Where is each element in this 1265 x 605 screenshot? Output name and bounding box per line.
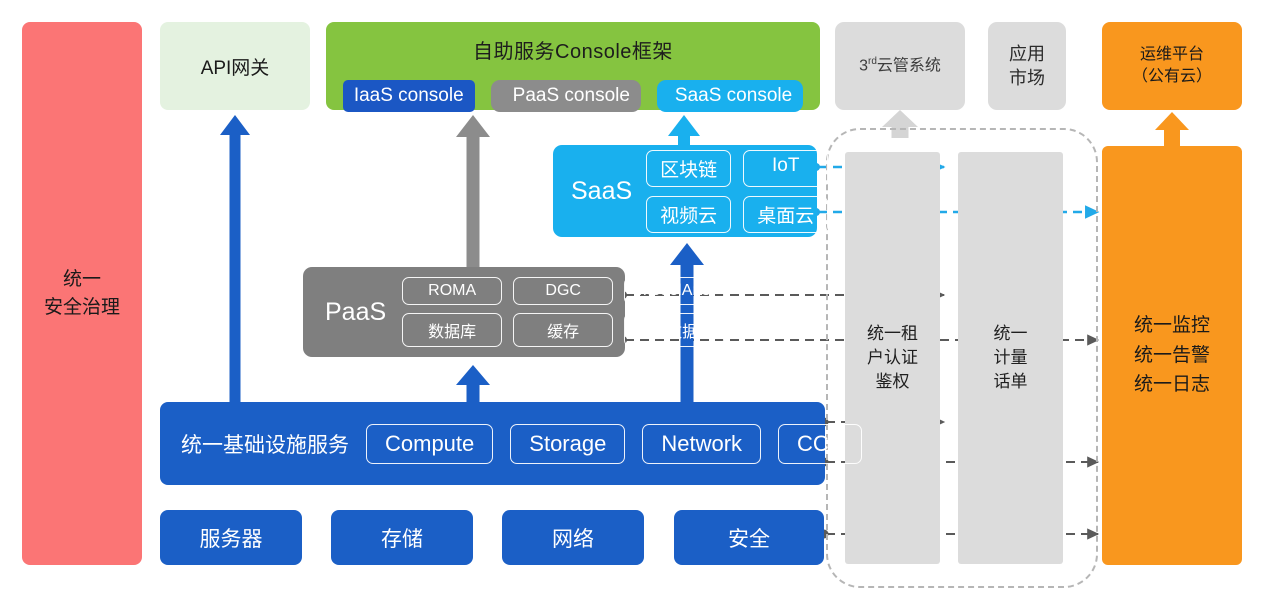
paas-service-cache[interactable]: 缓存 (513, 313, 613, 347)
paas-label: PaaS (325, 298, 386, 327)
saas-service-iot[interactable]: IoT (743, 150, 828, 187)
paas-layer-box: PaaS ROMA DGC ModelArts 数据库 缓存 大数据 (303, 267, 625, 357)
resource-label-network: 网络 (552, 523, 594, 553)
ops-body-line-1: 统一监控 (1134, 311, 1210, 340)
ops-platform-body-box: 统一监控 统一告警 统一日志 (1102, 146, 1242, 565)
iaas-service-cce[interactable]: CCE (778, 424, 862, 464)
third-party-label: 3rd云管系统 (859, 55, 941, 77)
paas-service-roma[interactable]: ROMA (402, 277, 502, 305)
metering-line-3: 话单 (994, 370, 1028, 394)
saas-service-blockchain[interactable]: 区块链 (646, 150, 731, 187)
ops-platform-header-box: 运维平台 （公有云） (1102, 22, 1242, 110)
api-gateway-label: API网关 (201, 53, 270, 80)
self-service-console-frame: 自助服务Console框架 IaaS console PaaS console … (326, 22, 820, 110)
ops-body-line-3: 统一日志 (1134, 370, 1210, 399)
unified-infrastructure-bar: 统一基础设施服务 Compute Storage Network CCE (160, 402, 825, 485)
arrow-paas-to-console (456, 115, 490, 272)
metering-line-1: 统一 (994, 322, 1028, 346)
paas-service-grid: ROMA DGC ModelArts 数据库 缓存 大数据 (402, 277, 724, 347)
iaas-service-compute[interactable]: Compute (366, 424, 493, 464)
arrow-to-ops-platform (1155, 112, 1189, 146)
metering-line-2: 计量 (994, 346, 1028, 370)
auth-line-3: 鉴权 (867, 370, 918, 394)
arrow-iaas-to-paas (456, 365, 490, 407)
app-market-line-2: 市场 (1009, 66, 1045, 90)
architecture-diagram: 统一 安全治理 API网关 自助服务Console框架 IaaS console… (0, 0, 1265, 605)
paas-service-dgc[interactable]: DGC (513, 277, 613, 305)
paas-service-bigdata[interactable]: 大数据 (624, 313, 724, 347)
auth-line-1: 统一租 (867, 322, 918, 346)
paas-service-database[interactable]: 数据库 (402, 313, 502, 347)
resource-box-storage[interactable]: 存储 (331, 510, 473, 565)
resource-label-server: 服务器 (200, 523, 263, 553)
resource-box-security[interactable]: 安全 (674, 510, 824, 565)
arrow-iaas-to-api-gateway (220, 115, 250, 405)
ops-head-line-2: （公有云） (1132, 66, 1212, 88)
resource-box-network[interactable]: 网络 (502, 510, 644, 565)
ops-body-line-2: 统一告警 (1134, 341, 1210, 370)
console-frame-title: 自助服务Console框架 (473, 35, 673, 64)
resource-label-storage: 存储 (381, 523, 423, 553)
saas-service-desktop-cloud[interactable]: 桌面云 (743, 196, 828, 233)
saas-service-grid: 区块链 IoT 视频云 桌面云 (646, 150, 828, 233)
iaas-service-storage[interactable]: Storage (510, 424, 625, 464)
paas-service-modelarts[interactable]: ModelArts (624, 277, 724, 305)
chip-paas-console[interactable]: PaaS console (491, 80, 641, 112)
saas-service-video-cloud[interactable]: 视频云 (646, 196, 731, 233)
iaas-service-network[interactable]: Network (642, 424, 761, 464)
unified-security-governance-panel: 统一 安全治理 (22, 22, 142, 565)
resource-label-security: 安全 (728, 523, 770, 553)
security-line-1: 统一 (44, 266, 120, 294)
chip-saas-console[interactable]: SaaS console (657, 80, 803, 112)
console-chip-row: IaaS console PaaS console SaaS console (343, 80, 803, 112)
app-market-box: 应用 市场 (988, 22, 1066, 110)
auth-line-2: 户认证 (867, 346, 918, 370)
security-line-2: 安全治理 (44, 294, 120, 322)
ops-head-line-1: 运维平台 (1132, 44, 1212, 66)
chip-iaas-console[interactable]: IaaS console (343, 80, 475, 112)
iaas-label: 统一基础设施服务 (181, 429, 349, 459)
resource-box-server[interactable]: 服务器 (160, 510, 302, 565)
saas-layer-box: SaaS 区块链 IoT 视频云 桌面云 (553, 145, 817, 237)
unified-tenant-auth-column: 统一租 户认证 鉴权 (845, 152, 940, 564)
third-party-cloud-mgmt-box: 3rd云管系统 (835, 22, 965, 110)
api-gateway-box: API网关 (160, 22, 310, 110)
unified-metering-billing-column: 统一 计量 话单 (958, 152, 1063, 564)
app-market-line-1: 应用 (1009, 42, 1045, 66)
saas-label: SaaS (571, 177, 632, 206)
